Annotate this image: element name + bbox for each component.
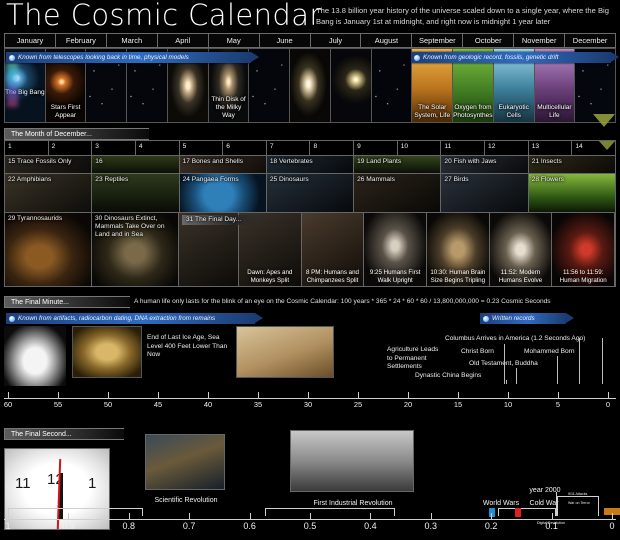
label-scientific-revolution: Scientific Revolution [138,497,234,504]
month-october: October [463,34,514,47]
axis-tick [158,392,159,398]
december-cell-label: 15 Trace Fossils Only [8,158,71,166]
december-day-2: 2 [49,141,93,155]
axis-tick [108,392,109,398]
december-cell-label: 22 Amphibians [8,176,51,184]
cosmic-caption-12: Eukaryotic Cells [494,104,534,120]
annotation-christ: Christ Born [461,348,513,357]
december-row-22-28: 22 Amphibians23 Reptiles24 Pangaea Forms… [4,173,616,212]
month-september: September [412,34,463,47]
december-cell-label: 21 Insects [532,158,562,166]
axis-tick-label: 25 [354,400,362,409]
month-january: January [5,34,56,47]
axis-tick-label: 35 [254,400,262,409]
final-day-cell-5: 11:52: Modern Humans Evolve [490,213,553,286]
december-cell-label: 18 Vertebrates [270,158,313,166]
axis-tick [310,513,311,519]
december-row-1-14: 1234567891011121314 [4,140,616,155]
december-cell: 19 Land Plants [354,156,441,173]
axis-tick-label: 60 [4,400,12,409]
cosmic-caption-10: The Solar System, Life [412,104,452,120]
banner-artifacts: Known from artifacts, radiocarbon dating… [6,313,255,324]
december-cell-label: 30 Dinosaurs Extinct, Mammals Take Over … [95,215,175,239]
december-cell: 27 Birds [441,174,528,212]
final-day-caption: 9:25 Humans First Walk Upright [364,269,426,284]
december-cell-label: 24 Pangaea Forms [183,176,239,184]
axis-tick [258,392,259,398]
december-day-4: 4 [136,141,180,155]
month-june: June [260,34,311,47]
december-day-12: 12 [485,141,529,155]
axis-tick [8,513,9,519]
month-november: November [514,34,565,47]
december-cell-label: 25 Dinosaurs [270,176,309,184]
cosmic-caption-5: Thin Disk of the Milky Way [209,96,249,120]
december-cell: 29 Tyrannosaurids [5,213,92,286]
cosmic-caption-1: Stars First Appear [46,104,86,120]
final-day-caption: 11:52: Modern Humans Evolve [490,269,552,284]
bullet-icon [9,316,15,322]
december-day-9: 9 [354,141,398,155]
final-day-caption: 11:56 to 11:59: Human Migration [552,269,614,284]
day-number: 3 [95,143,99,151]
cosmic-caption-13: Multicellular Life [535,104,575,120]
day-number: 5 [183,143,187,151]
month-august: August [361,34,412,47]
december-cell: 18 Vertebrates [267,156,354,173]
december-cell: 28 Flowers [529,174,615,212]
label-world-wars: World Wars [480,500,522,507]
axis-tick-label: 0.9 [62,521,75,531]
december-cell-label: 17 Bones and Shells [183,158,244,166]
day-number: 11 [444,143,451,151]
cosmic-cell-9 [372,49,413,122]
axis-tick [58,392,59,398]
leader-line [602,338,603,384]
leader-line [506,380,507,384]
axis-tick-label: 0.2 [485,521,498,531]
day-number: 12 [488,143,495,151]
december-cell: 20 Fish with Jaws [441,156,528,173]
day-number: 1 [8,143,12,151]
label-industrial-revolution: First Industrial Revolution [308,500,398,507]
axis-tick [491,513,492,519]
axis-tick-label: 0.8 [123,521,136,531]
december-day-6: 6 [223,141,267,155]
bracket-scientific [8,508,143,516]
final-minute-area: End of Last Ice Age, Sea Level 400 Feet … [4,326,616,392]
december-day-11: 11 [441,141,485,155]
december-cell-label: 16 [95,158,102,166]
axis-tick-label: 0.7 [183,521,196,531]
banner-written: Written records [480,313,566,324]
label-year-2000: year 2000 [523,487,567,494]
cosmic-calendar-infographic: The Cosmic Calendar The 13.8 billion yea… [0,0,620,540]
final-day-cell-4: 10:30: Human Brain Size Begins Tripling [427,213,490,286]
section-label-final-second: The Final Second... [4,428,124,440]
december-cell-label: 20 Fish with Jaws [444,158,496,166]
cosmic-caption-11: Oxygen from Photosynthesis [453,104,493,120]
month-may: May [209,34,260,47]
axis-tick-label: 0.6 [243,521,256,531]
axis-tick-label: 10 [504,400,512,409]
cosmic-caption-0: The Big Bang [5,89,45,97]
month-december: December [565,34,615,47]
annotation-ice-age: End of Last Ice Age, Sea Level 400 Feet … [147,334,233,360]
axis-tick-label: 20 [404,400,412,409]
axis-tick-label: 30 [304,400,312,409]
axis-tick-label: 0 [606,400,610,409]
month-february: February [56,34,107,47]
axis-tick-label: 0.1 [545,521,558,531]
final-day-cell-2: 8 PM: Humans and Chimpanzees Split [302,213,365,286]
december-day-3: 3 [92,141,136,155]
december-day-8: 8 [310,141,354,155]
axis-tick [431,513,432,519]
banner-artifacts-label: Known from artifacts, radiocarbon dating… [18,315,215,322]
december-cell: 22 Amphibians [5,174,92,212]
banner-geologic: Known from geologic record, fossils, gen… [411,52,611,63]
final-day-cell-3: 9:25 Humans First Walk Upright [364,213,427,286]
month-row: JanuaryFebruaryMarchAprilMayJuneJulyAugu… [4,33,616,48]
page-title: The Cosmic Calendar [6,0,322,32]
cave-painting-image [72,326,142,378]
final-minute-note: A human life only lasts for the blink of… [134,298,620,305]
final-minute-axis [4,398,616,399]
bullet-icon [414,55,420,61]
final-day-caption: 8 PM: Humans and Chimpanzees Split [302,269,364,284]
december-day-1: 1 [5,141,49,155]
month-july: July [311,34,362,47]
axis-tick [508,392,509,398]
axis-tick-label: 55 [54,400,62,409]
december-day-13: 13 [529,141,573,155]
december-day-10: 10 [398,141,442,155]
day-number: 13 [532,143,539,151]
day-number: 4 [139,143,143,151]
december-day-7: 7 [267,141,311,155]
banner-written-label: Written records [492,315,535,322]
leader-line [579,338,580,384]
clock-number-11: 11 [15,475,31,492]
axis-tick-label: 1 [5,521,10,531]
december-cell: 17 Bones and Shells [180,156,267,173]
axis-tick [408,392,409,398]
axis-tick [370,513,371,519]
december-cell-label: 23 Reptiles [95,176,128,184]
banner-telescopes: Known from telescopes looking back in ti… [6,52,251,63]
axis-tick [612,513,613,519]
bracket-industrial [265,508,395,516]
final-day-cell-6: 11:56 to 11:59: Human Migration [552,213,615,286]
axis-tick [208,392,209,398]
month-march: March [107,34,158,47]
banner-geologic-label: Known from geologic record, fossils, gen… [423,54,558,61]
december-31-final-day: Dawn: Apes and Monkeys Split8 PM: Humans… [179,213,615,286]
final-day-label: 31 The Final Day... [182,215,267,225]
axis-tick [308,392,309,398]
december-row-15-21: 15 Trace Fossils Only1617 Bones and Shel… [4,155,616,173]
december-cell: 24 Pangaea Forms [180,174,267,212]
leader-line [504,344,505,384]
cosmic-cell-8 [331,49,372,122]
day-number: 2 [52,143,56,151]
december-cell-label: 26 Mammals [357,176,395,184]
december-cell: 23 Reptiles [92,174,179,212]
header: The Cosmic Calendar The 13.8 billion yea… [0,0,620,32]
december-cell-label: 29 Tyrannosaurids [8,215,88,223]
section-label-final-minute: The Final Minute... [4,296,130,308]
egyptian-mural-image [236,326,334,378]
annotation-columbus: Columbus Arrives in America (1.2 Seconds… [445,335,620,344]
annotation-mohammed: Mohammed Born [524,348,592,357]
december-cell-label: 27 Birds [444,176,468,184]
december-cell: 30 Dinosaurs Extinct, Mammals Take Over … [92,213,179,286]
leader-line [557,356,558,384]
axis-tick-label: 15 [454,400,462,409]
december-cell: 21 Insects [529,156,615,173]
day-number: 9 [357,143,361,151]
axis-tick-label: 5 [556,400,560,409]
bullet-icon [483,316,489,322]
stopwatch-image [4,326,66,386]
december-grid: 1234567891011121314 15 Trace Fossils Onl… [4,140,616,287]
axis-tick [608,392,609,398]
section-label-december: The Month of December... [4,128,149,140]
axis-tick [129,513,130,519]
december-cell-label: 28 Flowers [532,176,564,184]
december-cell-label: 19 Land Plants [357,158,401,166]
final-day-caption: 10:30: Human Brain Size Begins Tripling [427,269,489,284]
axis-tick [250,513,251,519]
annotation-agriculture: Agriculture Leads to Permanent Settlemen… [387,346,445,372]
axis-tick [558,392,559,398]
axis-tick [358,392,359,398]
axis-tick [189,513,190,519]
industrial-revolution-image [290,430,414,492]
axis-tick-label: 40 [204,400,212,409]
bracket-y2k [556,492,557,516]
axis-tick-label: 45 [154,400,162,409]
bullet-icon [9,55,15,61]
day-number: 14 [575,143,582,151]
axis-tick [68,513,69,519]
december-cell: 26 Mammals [354,174,441,212]
axis-tick [8,392,9,398]
clock-image: 11 12 1 [4,448,110,530]
day-number: 6 [226,143,230,151]
december-row-29-31: 29 Tyrannosaurids30 Dinosaurs Extinct, M… [4,212,616,287]
bracket-cold-war [498,508,556,516]
final-day-caption: Dawn: Apes and Monkeys Split [239,269,301,284]
bracket-terror [557,496,599,516]
december-day-5: 5 [180,141,224,155]
day-number: 8 [313,143,317,151]
day-number: 7 [270,143,274,151]
december-day-14: 14 [572,141,615,155]
scientific-revolution-image [145,434,225,490]
leader-line [516,368,517,384]
day-number: 10 [401,143,408,151]
annotation-dynastic-china: Dynastic China Begins [415,372,507,381]
axis-tick-label: 0.5 [304,521,317,531]
axis-tick-label: 50 [104,400,112,409]
axis-tick-label: 0.4 [364,521,377,531]
axis-tick [552,513,553,519]
month-april: April [158,34,209,47]
world-war-2-marker [515,508,521,517]
december-cell: 25 Dinosaurs [267,174,354,212]
cosmic-cell-7 [290,49,331,122]
december-cell: 16 [92,156,179,173]
axis-tick [458,392,459,398]
axis-tick-label: 0 [609,521,614,531]
axis-tick-label: 0.3 [425,521,438,531]
banner-telescopes-label: Known from telescopes looking back in ti… [18,54,189,61]
final-second-axis [4,519,616,520]
clock-number-1: 1 [88,475,96,492]
december-cell: 15 Trace Fossils Only [5,156,92,173]
annotation-old-testament: Old Testament, Buddha [469,360,559,369]
down-arrow-icon [593,114,615,127]
header-subtitle: The 13.8 billion year history of the uni… [316,5,616,27]
